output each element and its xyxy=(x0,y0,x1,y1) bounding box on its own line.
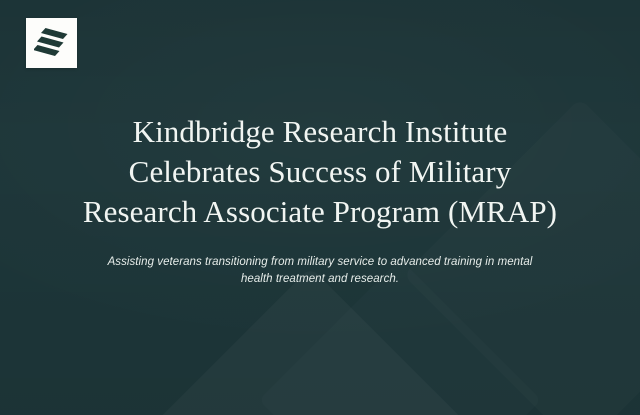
brand-logo xyxy=(26,18,77,68)
page-title: Kindbridge Research Institute Celebrates… xyxy=(30,112,610,232)
stacked-bars-icon xyxy=(34,26,70,60)
promo-card: Kindbridge Research Institute Celebrates… xyxy=(0,0,640,415)
text-content: Kindbridge Research Institute Celebrates… xyxy=(0,112,640,287)
background-diamond-shape xyxy=(123,267,498,415)
subtitle: Assisting veterans transitioning from mi… xyxy=(105,254,535,287)
headline-line-1: Kindbridge Research Institute xyxy=(30,112,610,152)
headline-line-2: Celebrates Success of Military xyxy=(30,152,610,192)
headline-line-3: Research Associate Program (MRAP) xyxy=(30,192,610,232)
